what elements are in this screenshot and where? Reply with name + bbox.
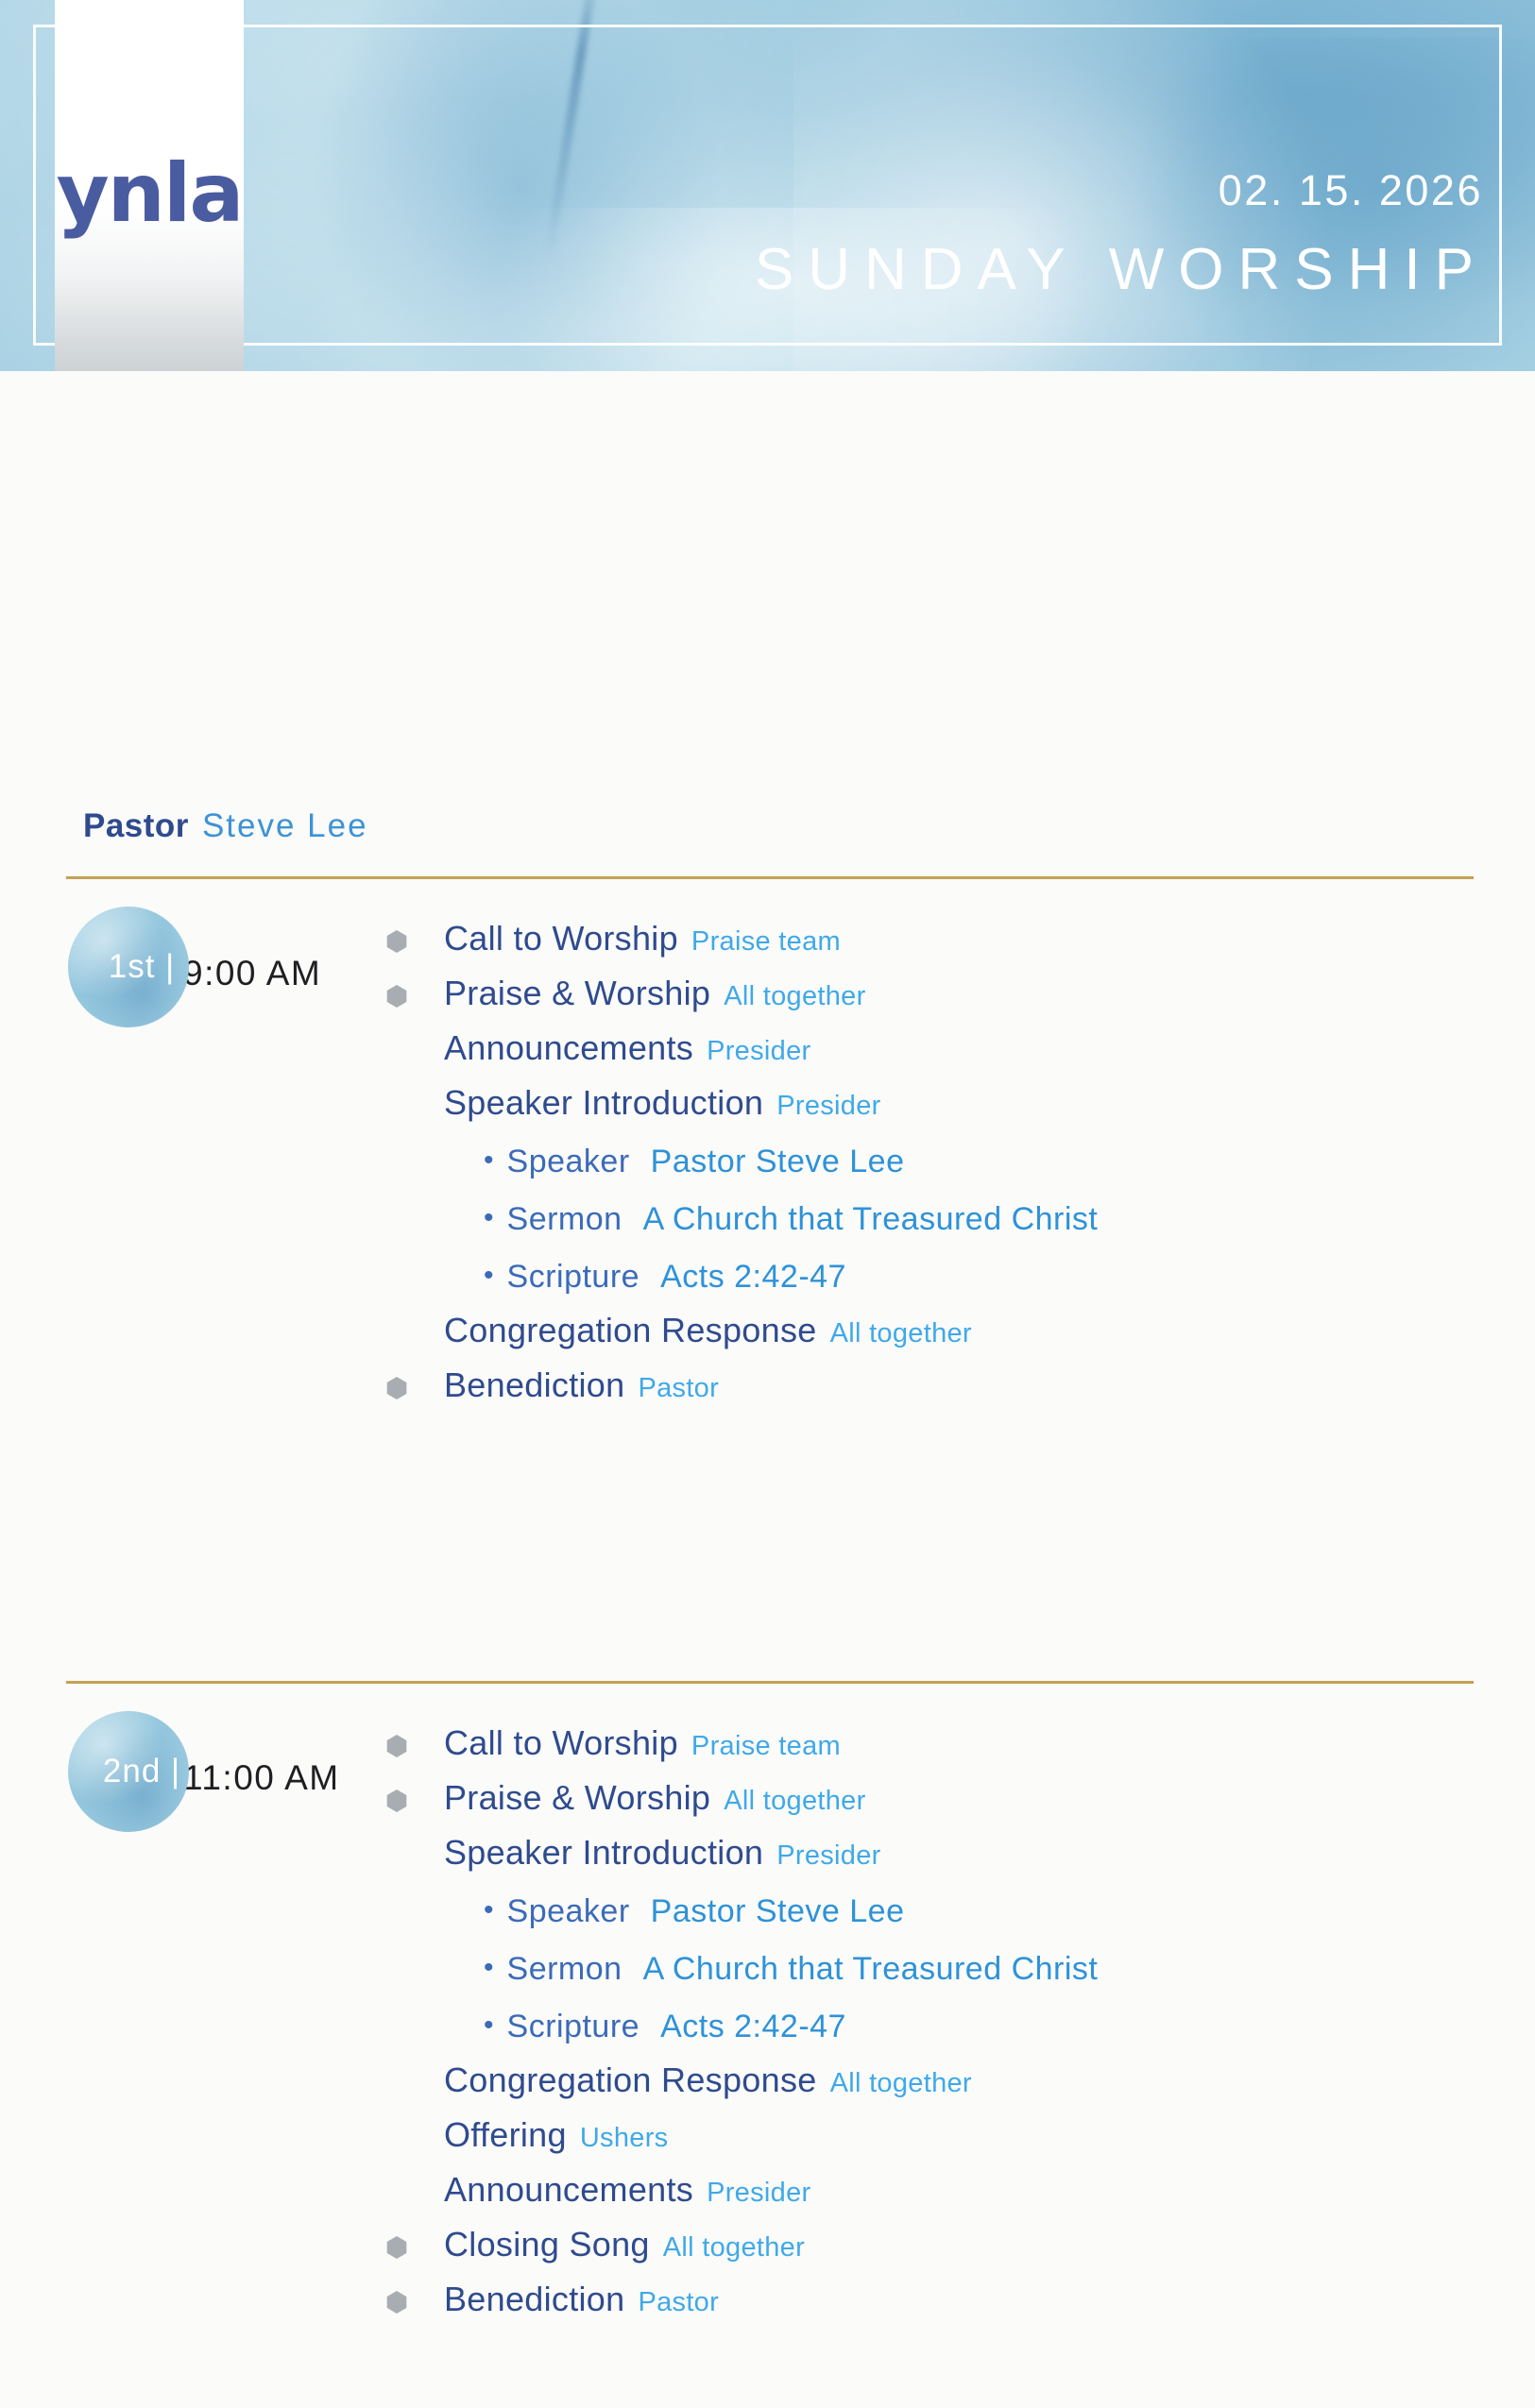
service-item-role: Ushers (580, 2123, 669, 2154)
service-subitem: •SpeakerPastor Steve Lee (444, 1893, 1511, 1930)
service-time: 11:00 AM (183, 1758, 340, 1798)
hexagon-bullet-icon (385, 1735, 408, 1757)
service-date: 02. 15. 2026 (1219, 166, 1483, 215)
service-item-label: Congregation Response (444, 1311, 817, 1350)
service-item-label: Congregation Response (444, 2060, 817, 2100)
service-item: Congregation ResponseAll together (444, 2060, 1511, 2100)
watercolor-vein (543, 0, 600, 263)
pastor-name: Steve Lee (202, 807, 368, 845)
ynla-logo: ynla (57, 153, 243, 234)
service-item: BenedictionPastor (444, 2280, 1511, 2319)
service-time-row: 1st | 9:00 AM (68, 926, 321, 1021)
service-item-role: All together (830, 1318, 972, 1349)
service-item-role: Pastor (638, 1373, 719, 1404)
service-item-list: Call to WorshipPraise teamPraise & Worsh… (444, 919, 1511, 1405)
service-item-role: All together (724, 981, 865, 1012)
service-item: Praise & WorshipAll together (444, 1778, 1511, 1818)
watercolor-blot-1 (267, 0, 771, 371)
service-item: Congregation ResponseAll together (444, 1311, 1511, 1350)
service-ordinal: 2nd | (103, 1753, 180, 1790)
service-item-label: Speaker Introduction (444, 1083, 763, 1123)
service-badge: 1st | (68, 907, 189, 1027)
pastor-row: Pastor Steve Lee (83, 807, 368, 845)
service-item: OfferingUshers (444, 2115, 1511, 2155)
service-item: BenedictionPastor (444, 1365, 1511, 1405)
subitem-label: Sermon (507, 1201, 623, 1238)
dot-bullet-icon: • (484, 1262, 494, 1290)
hexagon-bullet-icon (385, 930, 408, 953)
service-subitem: •ScriptureActs 2:42-47 (444, 2009, 1511, 2045)
dot-bullet-icon: • (484, 1146, 494, 1175)
service-item: Praise & WorshipAll together (444, 974, 1511, 1013)
page-title: SUNDAY WORSHIP (755, 236, 1488, 303)
dot-bullet-icon: • (484, 1896, 494, 1925)
subitem-value: Acts 2:42-47 (660, 1259, 846, 1296)
service-item-label: Call to Worship (444, 919, 678, 958)
pastor-label: Pastor (83, 807, 189, 845)
hexagon-bullet-icon (385, 2291, 408, 2314)
service-item: Speaker IntroductionPresider (444, 1083, 1511, 1123)
service-item-role: All together (663, 2232, 805, 2264)
service-item-role: Praise team (691, 926, 841, 958)
service-item-label: Speaker Introduction (444, 1833, 763, 1873)
header-banner: ynla 02. 15. 2026 SUNDAY WORSHIP (0, 0, 1535, 371)
subitem-value: Pastor Steve Lee (651, 1893, 905, 1930)
service-ordinal: 1st | (109, 948, 176, 986)
service-time: 9:00 AM (183, 954, 321, 993)
service-item: AnnouncementsPresider (444, 2170, 1511, 2210)
service-item-role: Praise team (691, 1731, 841, 1762)
service-item-label: Call to Worship (444, 1723, 678, 1763)
subitem-value: A Church that Treasured Christ (643, 1201, 1099, 1238)
service-item-role: Pastor (638, 2287, 719, 2318)
divider-top (66, 876, 1474, 879)
subitem-label: Scripture (507, 1259, 640, 1296)
service-subitem: •ScriptureActs 2:42-47 (444, 1259, 1511, 1296)
service-subitem: •SermonA Church that Treasured Christ (444, 1951, 1511, 1988)
service-item-label: Offering (444, 2115, 567, 2155)
service-item-label: Praise & Worship (444, 1778, 710, 1818)
service-item-label: Benediction (444, 1365, 624, 1405)
service-item-role: All together (830, 2068, 972, 2099)
subitem-value: A Church that Treasured Christ (643, 1951, 1099, 1988)
subitem-label: Speaker (507, 1893, 630, 1930)
logo-panel: ynla (55, 0, 244, 371)
service-item-role: Presider (776, 1840, 880, 1872)
service-item: Call to WorshipPraise team (444, 1723, 1511, 1763)
dot-bullet-icon: • (484, 1204, 494, 1232)
dot-bullet-icon: • (484, 2011, 494, 2040)
service-item-role: Presider (707, 2178, 810, 2209)
service-subitem: •SermonA Church that Treasured Christ (444, 1201, 1511, 1238)
hexagon-bullet-icon (385, 2236, 408, 2259)
hexagon-bullet-icon (385, 985, 408, 1008)
service-item-role: All together (724, 1786, 865, 1817)
service-subitem: •SpeakerPastor Steve Lee (444, 1144, 1511, 1180)
service-time-row: 2nd | 11:00 AM (68, 1731, 340, 1825)
bulletin-page: ynla 02. 15. 2026 SUNDAY WORSHIP Pastor … (0, 0, 1535, 2408)
service-item: AnnouncementsPresider (444, 1028, 1511, 1068)
subitem-label: Speaker (507, 1144, 630, 1180)
subitem-value: Acts 2:42-47 (660, 2009, 846, 2045)
service-item-role: Presider (707, 1036, 810, 1067)
hexagon-bullet-icon (385, 1377, 408, 1399)
service-item-label: Announcements (444, 2170, 693, 2210)
service-item-label: Closing Song (444, 2225, 650, 2264)
hexagon-bullet-icon (385, 1789, 408, 1812)
service-item-list: Call to WorshipPraise teamPraise & Worsh… (444, 1723, 1511, 2319)
subitem-label: Scripture (507, 2009, 640, 2045)
divider-middle (66, 1681, 1474, 1684)
service-item-label: Praise & Worship (444, 974, 710, 1013)
subitem-label: Sermon (507, 1951, 623, 1988)
service-item: Closing SongAll together (444, 2225, 1511, 2264)
service-item-label: Benediction (444, 2280, 624, 2319)
service-badge: 2nd | (68, 1711, 189, 1832)
service-item-role: Presider (776, 1091, 880, 1122)
service-item: Speaker IntroductionPresider (444, 1833, 1511, 1873)
service-item: Call to WorshipPraise team (444, 919, 1511, 958)
subitem-value: Pastor Steve Lee (651, 1144, 905, 1180)
service-item-label: Announcements (444, 1028, 693, 1068)
dot-bullet-icon: • (484, 1954, 494, 1982)
